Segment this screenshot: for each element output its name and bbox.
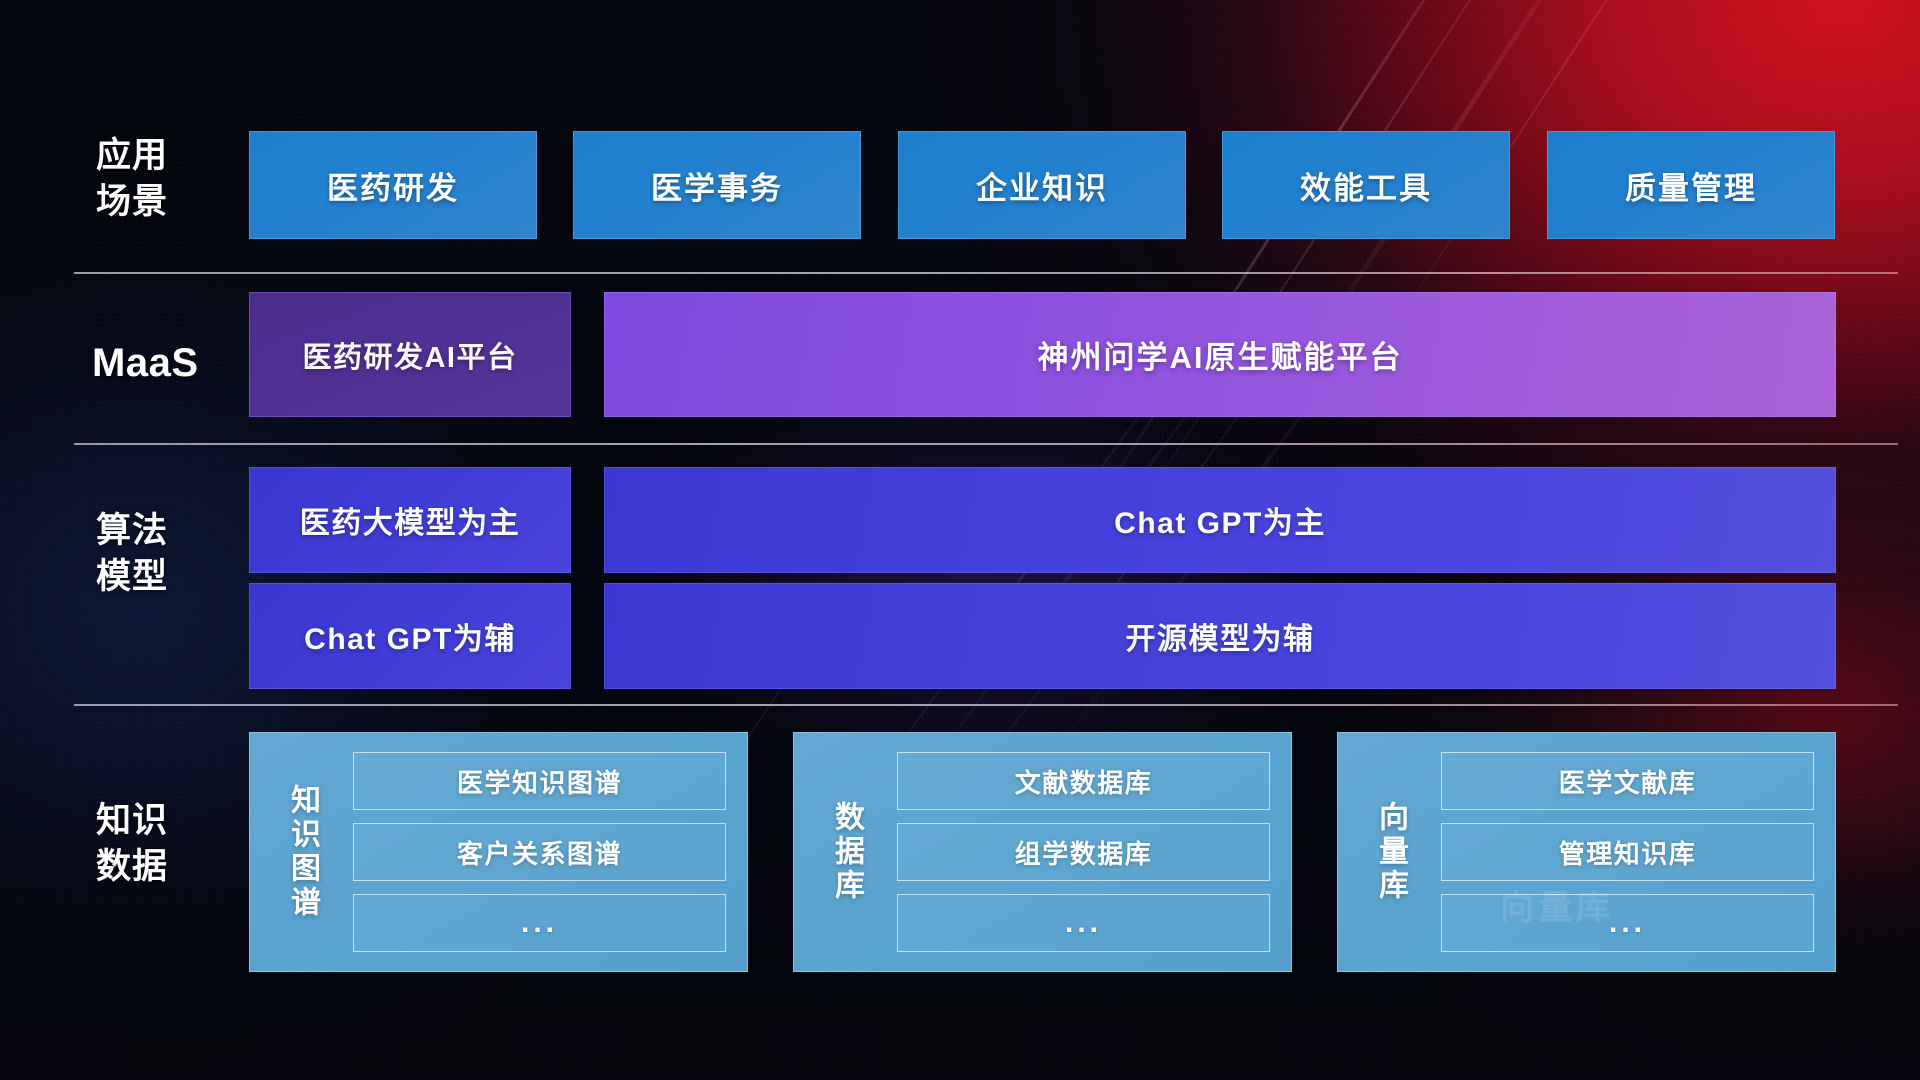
maas-left-label: 医药研发AI平台 [302, 334, 517, 376]
panel-item-list: 医学文献库 管理知识库 ... [1427, 746, 1818, 958]
panel-item-list: 医学知识图谱 客户关系图谱 ... [339, 746, 730, 958]
panel-item[interactable]: 文献数据库 [897, 752, 1270, 810]
panel-title-vertical: 数据库 [809, 746, 883, 958]
divider-2 [74, 443, 1898, 445]
app-box-5[interactable]: 质量管理 [1547, 131, 1835, 239]
panel-item[interactable]: 客户关系图谱 [353, 823, 726, 881]
app-box-label: 企业知识 [976, 163, 1108, 208]
knowledge-panel-vector[interactable]: 向量库 医学文献库 管理知识库 ... [1337, 732, 1836, 972]
row-label-algorithm: 算法 模型 [96, 508, 236, 600]
panel-item[interactable]: 管理知识库 [1441, 823, 1814, 881]
algo-right-box-2[interactable]: 开源模型为辅 [604, 583, 1836, 689]
slide-canvas: 应用 场景 医药研发 医学事务 企业知识 效能工具 质量管理 MaaS 医药研发… [0, 0, 1920, 1080]
app-box-label: 效能工具 [1300, 163, 1432, 208]
algo-box-label: 医药大模型为主 [300, 498, 521, 542]
knowledge-panel-graph[interactable]: 知识图谱 医学知识图谱 客户关系图谱 ... [249, 732, 748, 972]
panel-title-vertical: 知识图谱 [265, 746, 339, 958]
row-label-application: 应用 场景 [96, 133, 236, 225]
divider-3 [74, 704, 1898, 706]
diagram-content: 应用 场景 医药研发 医学事务 企业知识 效能工具 质量管理 MaaS 医药研发… [0, 0, 1920, 1080]
panel-item-list: 文献数据库 组学数据库 ... [883, 746, 1274, 958]
app-box-2[interactable]: 医学事务 [573, 131, 861, 239]
maas-right-box[interactable]: 神州问学AI原生赋能平台 [604, 292, 1836, 417]
panel-item-more[interactable]: ... [897, 894, 1270, 952]
algo-left-box-2[interactable]: Chat GPT为辅 [249, 583, 571, 689]
app-box-4[interactable]: 效能工具 [1222, 131, 1510, 239]
algo-right-box-1[interactable]: Chat GPT为主 [604, 467, 1836, 573]
panel-title-vertical: 向量库 [1353, 746, 1427, 958]
panel-item[interactable]: 组学数据库 [897, 823, 1270, 881]
app-box-3[interactable]: 企业知识 [898, 131, 1186, 239]
algo-box-label: 开源模型为辅 [1126, 614, 1315, 658]
divider-1 [74, 272, 1898, 274]
app-box-label: 医学事务 [651, 163, 783, 208]
algo-left-box-1[interactable]: 医药大模型为主 [249, 467, 571, 573]
algo-box-label: Chat GPT为主 [1114, 498, 1326, 542]
maas-right-label: 神州问学AI原生赋能平台 [1038, 332, 1403, 377]
panel-item[interactable]: 医学知识图谱 [353, 752, 726, 810]
panel-item-more[interactable]: ... [353, 894, 726, 952]
app-box-1[interactable]: 医药研发 [249, 131, 537, 239]
panel-item[interactable]: 医学文献库 [1441, 752, 1814, 810]
knowledge-panel-database[interactable]: 数据库 文献数据库 组学数据库 ... [793, 732, 1292, 972]
maas-left-box[interactable]: 医药研发AI平台 [249, 292, 571, 417]
algo-box-label: Chat GPT为辅 [304, 614, 516, 658]
app-box-label: 医药研发 [327, 163, 459, 208]
row-label-maas: MaaS [92, 340, 272, 386]
row-label-knowledge: 知识 数据 [96, 798, 236, 890]
app-box-label: 质量管理 [1625, 163, 1757, 208]
panel-item-more[interactable]: ... [1441, 894, 1814, 952]
